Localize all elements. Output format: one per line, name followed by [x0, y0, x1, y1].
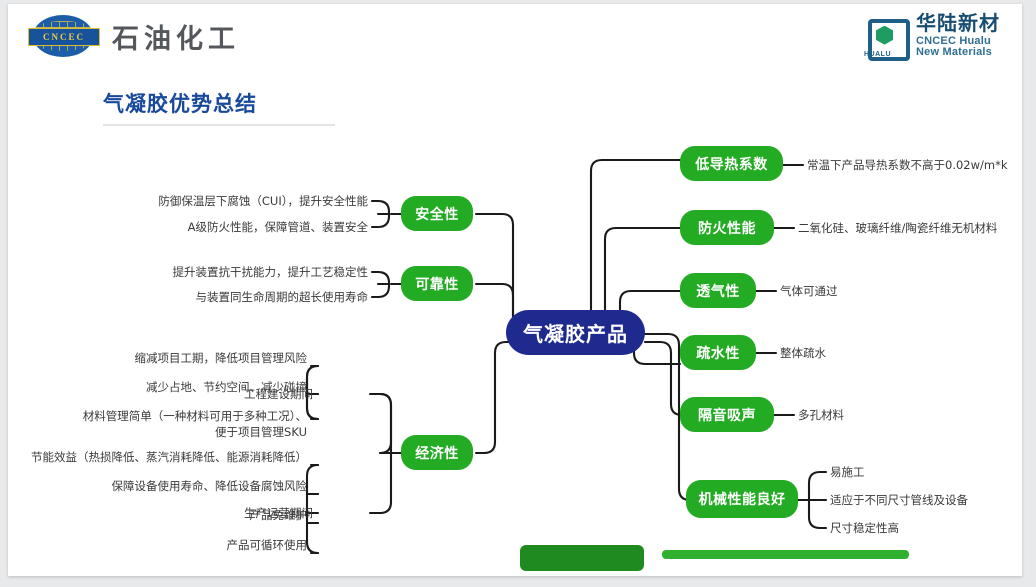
branch-node-safety[interactable]: 安全性 — [401, 196, 473, 231]
leaf-safety-1: 防御保温层下腐蚀（CUI），提升安全性能 — [68, 193, 368, 209]
branch-node-mechanical[interactable]: 机械性能良好 — [686, 480, 798, 518]
leaf-operation-3: 产品免维护 — [8, 507, 307, 523]
branch-node-breathable[interactable]: 透气性 — [680, 273, 756, 308]
mindmap-center-node[interactable]: 气凝胶产品 — [506, 310, 645, 355]
branch-node-low-conductivity[interactable]: 低导热系数 — [680, 146, 783, 181]
cutoff-shape-bar — [662, 550, 909, 559]
branch-node-hydrophobic[interactable]: 疏水性 — [680, 335, 756, 370]
leaf-construction-2: 减少占地、节约空间、减少碰撞 — [8, 379, 307, 395]
leaf-fireproof-1: 二氧化硅、玻璃纤维/陶瓷纤维无机材料 — [798, 220, 997, 236]
leaf-sound-insulation-1: 多孔材料 — [798, 407, 844, 423]
leaf-mechanical-2: 适应于不同尺寸管线及设备 — [830, 492, 968, 508]
leaf-breathable-1: 气体可通过 — [780, 283, 838, 299]
leaf-reliability-1: 提升装置抗干扰能力，提升工艺稳定性 — [68, 264, 368, 280]
branch-node-economy[interactable]: 经济性 — [401, 435, 473, 470]
leaf-mechanical-3: 尺寸稳定性高 — [830, 520, 899, 536]
branch-node-sound-insulation[interactable]: 隔音吸声 — [680, 397, 774, 432]
leaf-construction-3: 材料管理简单（一种材料可用于多种工况）、便于项目管理SKU — [82, 408, 307, 440]
cutoff-shape-dark — [520, 545, 644, 571]
leaf-low-conductivity-1: 常温下产品导热系数不高于0.02w/m*k — [807, 157, 1008, 173]
leaf-safety-2: A级防火性能，保障管道、装置安全 — [68, 219, 368, 235]
leaf-mechanical-1: 易施工 — [830, 464, 865, 480]
leaf-operation-4: 产品可循环使用 — [8, 537, 307, 553]
mindmap: 气凝胶产品 安全性 可靠性 经济性 防御保温层下腐蚀（CUI），提升安全性能 A… — [8, 4, 1022, 576]
leaf-operation-1: 节能效益（热损降低、蒸汽消耗降低、能源消耗降低） — [8, 449, 307, 465]
branch-node-reliability[interactable]: 可靠性 — [401, 266, 473, 301]
leaf-hydrophobic-1: 整体疏水 — [780, 345, 826, 361]
leaf-construction-1: 缩减项目工期，降低项目管理风险 — [8, 350, 307, 366]
branch-node-fireproof[interactable]: 防火性能 — [680, 210, 774, 245]
leaf-reliability-2: 与装置同生命周期的超长使用寿命 — [68, 289, 368, 305]
slide-canvas: CNCEC 石油化工 HUALU 华陆新材 CNCEC Hualu New Ma… — [8, 4, 1022, 576]
leaf-operation-2: 保障设备使用寿命、降低设备腐蚀风险 — [8, 478, 307, 494]
